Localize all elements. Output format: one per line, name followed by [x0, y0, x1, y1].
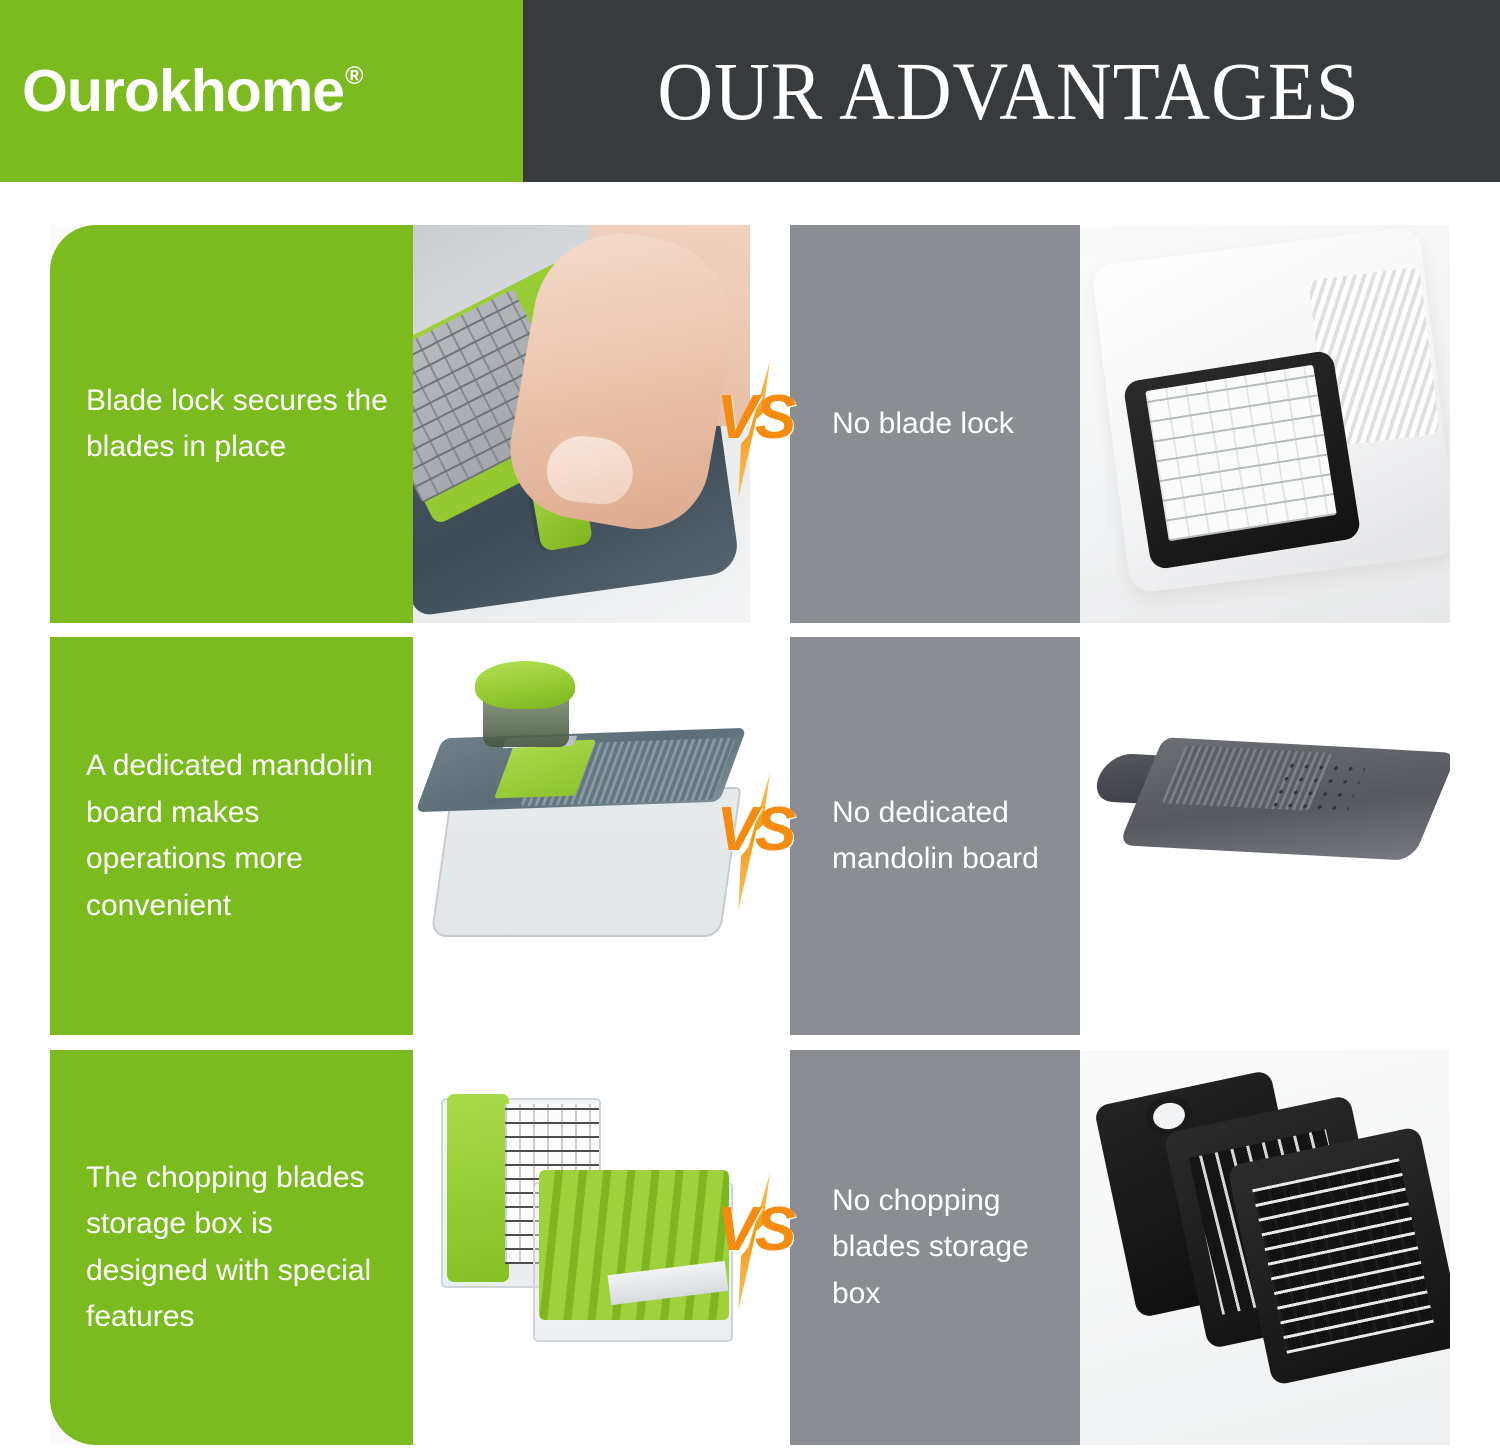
brand-name-text: Ourokhome	[22, 58, 344, 124]
pro-cell-3: The chopping blades storage box is desig…	[50, 1050, 750, 1445]
comparison-row-1: Blade lock secures the blades in place N…	[50, 225, 1450, 623]
pro-photo-2	[413, 637, 750, 1035]
pro-text-panel-1: Blade lock secures the blades in place	[50, 225, 413, 623]
con-cell-3: No chopping blades storage box	[790, 1050, 1450, 1445]
blade-grid-icon	[1145, 365, 1337, 542]
con-text-3: No chopping blades storage box	[790, 1178, 1080, 1318]
pro-photo-1	[413, 225, 750, 623]
pro-text-1: Blade lock secures the blades in place	[50, 378, 413, 471]
title-block: OUR ADVANTAGES	[523, 0, 1500, 182]
pro-cell-1: Blade lock secures the blades in place	[50, 225, 750, 623]
pro-text-panel-2: A dedicated mandolin board makes operati…	[50, 637, 413, 1035]
con-cell-2: No dedicated mandolin board	[790, 637, 1450, 1035]
con-text-1: No blade lock	[790, 401, 1032, 448]
registered-trademark-icon: ®	[345, 62, 362, 90]
pro-text-panel-3: The chopping blades storage box is desig…	[50, 1050, 413, 1445]
brand-name: Ourokhome®	[22, 62, 362, 121]
con-text-panel-2: No dedicated mandolin board	[790, 637, 1080, 1035]
con-photo-2	[1080, 637, 1450, 1035]
con-text-panel-3: No chopping blades storage box	[790, 1050, 1080, 1445]
green-blade-rear	[447, 1094, 509, 1282]
comparison-grid: Blade lock secures the blades in place N…	[50, 225, 1450, 1417]
con-text-2: No dedicated mandolin board	[790, 790, 1080, 883]
pro-text-2: A dedicated mandolin board makes operati…	[50, 743, 413, 929]
con-cell-1: No blade lock	[790, 225, 1450, 623]
con-photo-3	[1080, 1050, 1450, 1445]
pro-photo-3	[413, 1050, 750, 1445]
brand-logo-block: Ourokhome®	[0, 0, 523, 182]
pro-cell-2: A dedicated mandolin board makes operati…	[50, 637, 750, 1035]
food-holder-cap	[475, 661, 575, 709]
comparison-row-3: The chopping blades storage box is desig…	[50, 1050, 1450, 1445]
page-title: OUR ADVANTAGES	[657, 50, 1359, 133]
con-photo-1	[1080, 225, 1450, 623]
page-header: Ourokhome® OUR ADVANTAGES	[0, 0, 1500, 182]
pro-text-3: The chopping blades storage box is desig…	[50, 1155, 413, 1341]
con-text-panel-1: No blade lock	[790, 225, 1080, 623]
comparison-row-2: A dedicated mandolin board makes operati…	[50, 637, 1450, 1035]
